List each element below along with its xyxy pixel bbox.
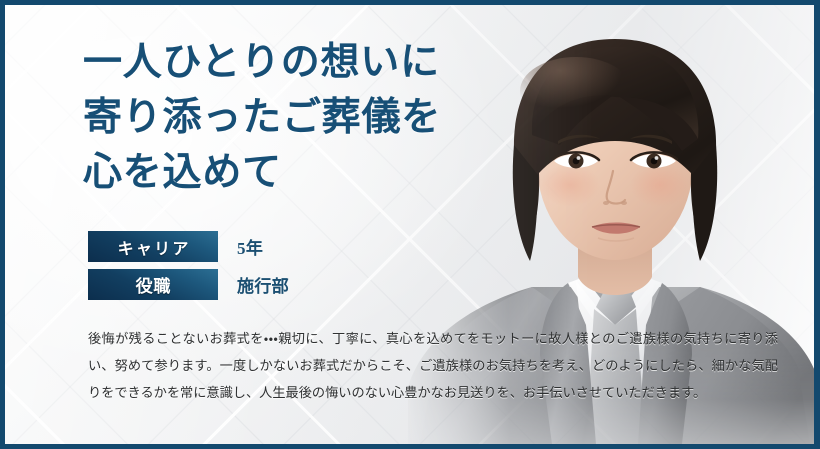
badge-career-label: キャリア — [88, 231, 218, 262]
page-title: 一人ひとりの想いに 寄り添ったご葬儀を 心を込めて — [83, 35, 441, 200]
staff-meta-list: キャリア 5年 役職 施行部 — [88, 231, 289, 307]
meta-value-position: 施行部 — [237, 272, 289, 297]
staff-profile-banner: 一人ひとりの想いに 寄り添ったご葬儀を 心を込めて キャリア 5年 役職 施行部… — [0, 0, 820, 449]
headline-line-3: 心を込めて — [83, 145, 441, 200]
badge-position-label: 役職 — [88, 269, 218, 300]
staff-message-paragraph: 後悔が残ることないお葬式を・・・親切に、丁寧に、真心を込めてをモットーに故人様と… — [88, 325, 778, 406]
headline-line-2: 寄り添ったご葬儀を — [83, 90, 441, 145]
banner-content: 一人ひとりの想いに 寄り添ったご葬儀を 心を込めて キャリア 5年 役職 施行部… — [83, 5, 513, 449]
headline-line-1: 一人ひとりの想いに — [83, 35, 441, 90]
meta-row-position: 役職 施行部 — [88, 269, 289, 300]
meta-row-career: キャリア 5年 — [88, 231, 289, 262]
meta-value-career: 5年 — [237, 234, 263, 259]
